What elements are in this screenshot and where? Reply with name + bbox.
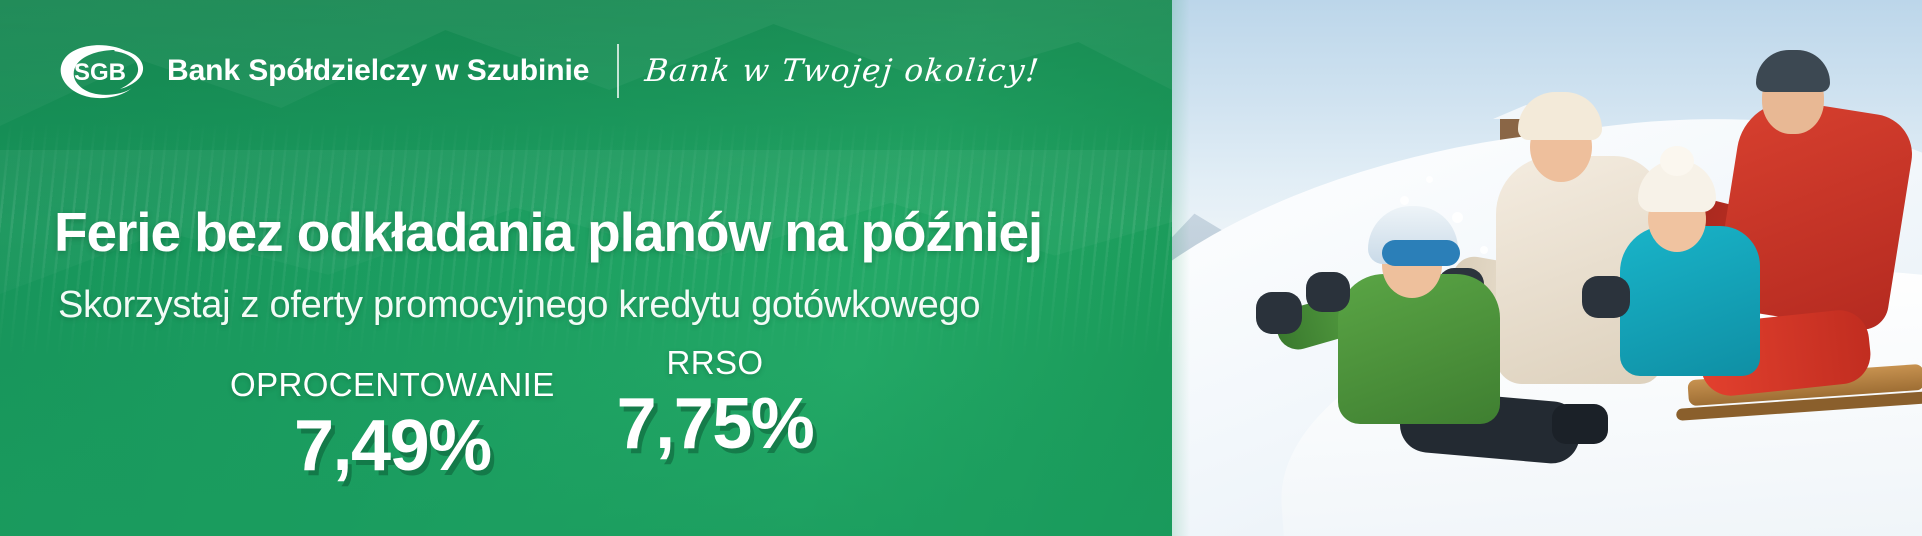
bank-name: Bank Spółdzielczy w Szubinie bbox=[167, 56, 589, 86]
boy-glove bbox=[1256, 292, 1302, 334]
brand-header: SGB Bank Spółdzielczy w Szubinie Bank w … bbox=[54, 36, 1040, 106]
man-beanie bbox=[1756, 50, 1830, 92]
winter-family-sledding-photo bbox=[1100, 0, 1922, 536]
rate-rrso: RRSO 7,75% bbox=[617, 346, 814, 463]
snow-spray-particle bbox=[1452, 212, 1463, 223]
girl-hat-pompom bbox=[1660, 146, 1694, 176]
girl-glove bbox=[1582, 276, 1630, 318]
rate-label: OPROCENTOWANIE bbox=[230, 368, 555, 401]
page-title: Ferie bez odkładania planów na później bbox=[54, 204, 1042, 260]
sgb-swoosh-logo-icon[interactable]: SGB bbox=[54, 40, 150, 102]
rates-group: OPROCENTOWANIE 7,49% RRSO 7,75% bbox=[230, 368, 813, 485]
rate-label: RRSO bbox=[666, 346, 763, 379]
girl-jacket bbox=[1620, 226, 1760, 376]
promo-banner: SGB Bank Spółdzielczy w Szubinie Bank w … bbox=[0, 0, 1922, 536]
page-subtitle: Skorzystaj z oferty promocyjnego kredytu… bbox=[58, 286, 980, 326]
boy-glove bbox=[1306, 272, 1350, 312]
woman-knit-hat bbox=[1518, 92, 1602, 140]
snow-spray-particle bbox=[1426, 176, 1433, 183]
rate-value: 7,49% bbox=[294, 409, 491, 485]
snow-spray-particle bbox=[1400, 196, 1409, 205]
header-divider bbox=[617, 44, 619, 98]
rate-value: 7,75% bbox=[617, 387, 814, 463]
boy-ski-goggles bbox=[1382, 240, 1460, 266]
rate-oprocentowanie: OPROCENTOWANIE 7,49% bbox=[230, 368, 555, 485]
brand-tagline: Bank w Twojej okolicy! bbox=[644, 56, 1042, 87]
snow-spray-particle bbox=[1480, 246, 1488, 254]
boy-boot bbox=[1552, 404, 1608, 444]
svg-text:SGB: SGB bbox=[74, 59, 126, 86]
